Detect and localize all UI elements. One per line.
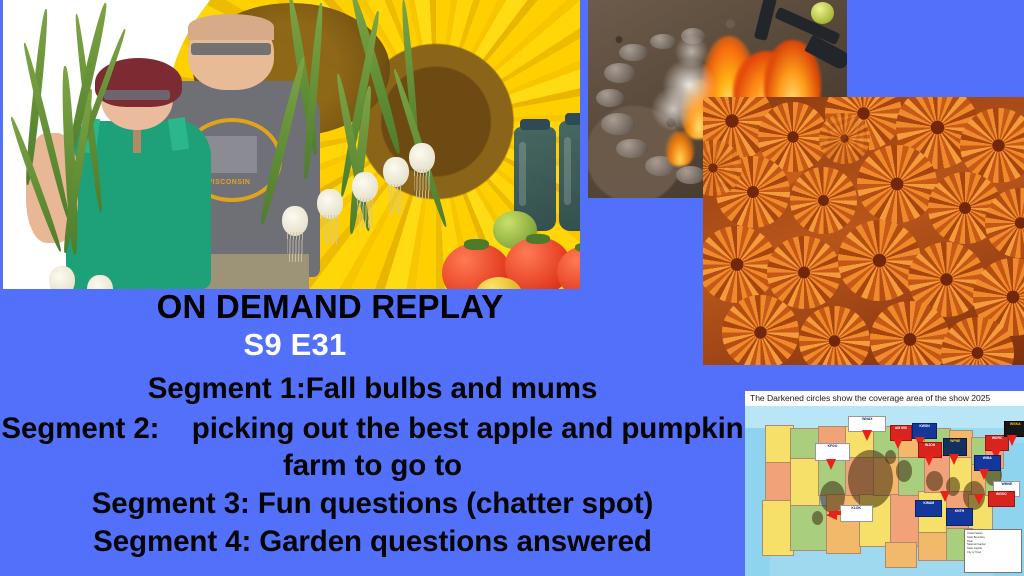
station-label-kntb[interactable]: KNTH <box>946 508 973 526</box>
map-legend: United States State Boundary River Natio… <box>964 529 1022 573</box>
map-body: WNAX AM 950 KWSN KFGO WJON WPNE WDRC WGK… <box>745 406 1024 576</box>
garlic-bunch-right <box>251 0 470 286</box>
orange-mums-photo <box>703 97 1024 365</box>
station-label-klok[interactable]: KLOK <box>840 505 873 523</box>
coverage-circle-3 <box>812 511 823 525</box>
segment-1-text: Segment 1:Fall bulbs and mums <box>0 372 745 406</box>
segment-3-text: Segment 3: Fun questions (chatter spot) <box>0 487 745 521</box>
map-caption: The Darkened circles show the coverage a… <box>745 391 1024 406</box>
coverage-circle-9 <box>885 450 896 464</box>
coverage-circle-5 <box>926 471 943 491</box>
legend-item-4: City or Town <box>967 551 1019 555</box>
garlic-bunch-left <box>3 3 170 289</box>
mason-jar-right <box>559 121 580 231</box>
episode-label: S9 E31 <box>0 327 590 363</box>
radio-coverage-map-photo: The Darkened circles show the coverage a… <box>745 391 1024 576</box>
couple-with-sunflower-photo: WISCONSIN <box>3 0 580 289</box>
page-title: ON DEMAND REPLAY <box>0 288 660 326</box>
segment-4-text: Segment 4: Garden questions answered <box>0 525 745 559</box>
segment-2-text-2: farm to go to <box>0 449 745 483</box>
slide-canvas: WISCONSIN <box>0 0 1024 576</box>
station-label-wgso[interactable]: WGSO <box>988 491 1015 507</box>
station-label-kwam[interactable]: KWAM <box>915 500 942 518</box>
segment-2-text: Segment 2: picking out the best apple an… <box>0 412 745 446</box>
